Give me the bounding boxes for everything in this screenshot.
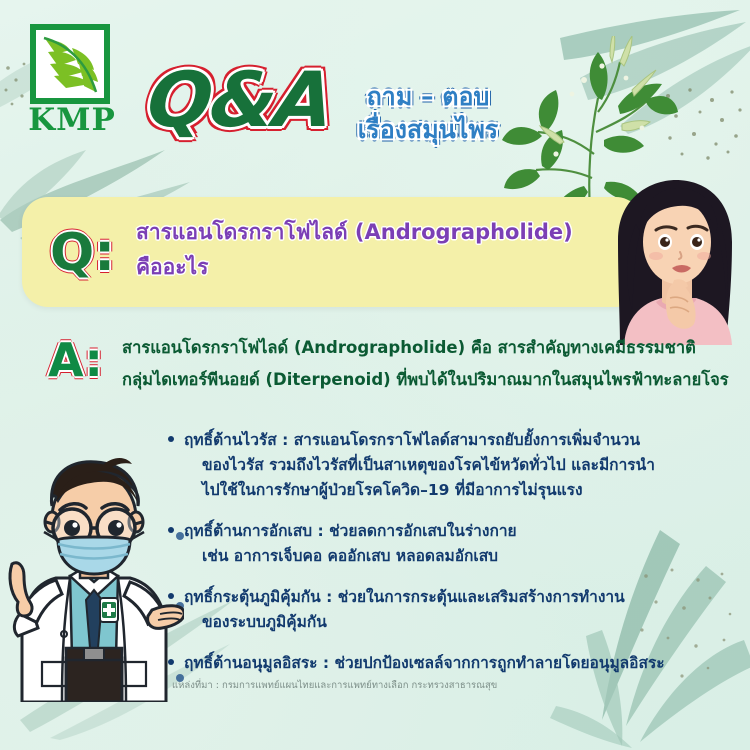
answer-line-2: กลุ่มไดเทอร์พีนอยด์ (Diterpenoid) ที่พบไ… xyxy=(122,364,742,396)
subtitle-line-1: ถาม – ตอบ xyxy=(338,80,518,113)
list-item: ฤทธิ์ต้านอนุมูลอิสระ : ช่วยปกป้องเซลล์จา… xyxy=(168,651,748,676)
bullet-line: ฤทธิ์กระตุ้นภูมิคุ้มกัน : ช่วยในการกระตุ… xyxy=(184,585,748,610)
doctor-illustration xyxy=(4,452,184,702)
answer-line-1: สารแอนโดรกราโฟไลด์ (Andrographolide) คือ… xyxy=(122,332,742,364)
list-item: ฤทธิ์กระตุ้นภูมิคุ้มกัน : ช่วยในการกระตุ… xyxy=(168,585,748,635)
source-note: แหล่งที่มา : กรมการแพทย์แผนไทยและการแพทย… xyxy=(172,678,497,693)
list-item: ฤทธิ์ต้านไวรัส : สารแอนโดรกราโฟไลด์สามาร… xyxy=(168,428,748,503)
question-line-1: สารแอนโดรกราโฟไลด์ (Andrographolide) xyxy=(136,215,636,250)
bullet-line: ของไวรัส รวมถึงไวรัสที่เป็นสาเหตุของโรคไ… xyxy=(184,453,748,478)
bullet-line: ฤทธิ์ต้านอนุมูลอิสระ : ช่วยปกป้องเซลล์จา… xyxy=(184,651,748,676)
logo-text: KMP xyxy=(26,104,118,136)
bullet-dot-icon xyxy=(168,436,174,442)
answer-badge: A: xyxy=(48,330,128,390)
subtitle-line-2: เรื่องสมุนไพร xyxy=(338,113,518,146)
list-item: ฤทธิ์ต้านการอักเสบ : ช่วยลดการอักเสบในร่… xyxy=(168,519,748,569)
page-title: Q&A xyxy=(144,62,336,138)
kmp-logo: KMP xyxy=(26,24,118,136)
infographic-poster: KMP Q&A ถาม – ตอบ เรื่องสมุนไพร Q: สารแอ… xyxy=(0,0,750,750)
bullet-line: ฤทธิ์ต้านการอักเสบ : ช่วยลดการอักเสบในร่… xyxy=(184,519,748,544)
bullet-line: เช่น อาการเจ็บคอ คออักเสบ หลอดลมอักเสบ xyxy=(184,544,748,569)
bullet-line: ของระบบภูมิคุ้มกัน xyxy=(184,610,748,635)
question-badge: Q: xyxy=(50,218,136,288)
header-subtitle: ถาม – ตอบ เรื่องสมุนไพร xyxy=(338,80,518,146)
bullet-line: ไปใช้ในการรักษาผู้ป่วยโรคโควิด–19 ที่มีอ… xyxy=(184,478,748,503)
answer-text: สารแอนโดรกราโฟไลด์ (Andrographolide) คือ… xyxy=(122,332,742,396)
logo-square-frame xyxy=(30,24,110,104)
question-line-2: คืออะไร xyxy=(136,250,636,285)
leaf-icon xyxy=(36,30,104,98)
benefit-list: ฤทธิ์ต้านไวรัส : สารแอนโดรกราโฟไลด์สามาร… xyxy=(168,428,748,692)
bullet-line: ฤทธิ์ต้านไวรัส : สารแอนโดรกราโฟไลด์สามาร… xyxy=(184,428,748,453)
question-text: สารแอนโดรกราโฟไลด์ (Andrographolide) คือ… xyxy=(136,215,636,285)
thinking-woman-illustration xyxy=(600,180,750,345)
